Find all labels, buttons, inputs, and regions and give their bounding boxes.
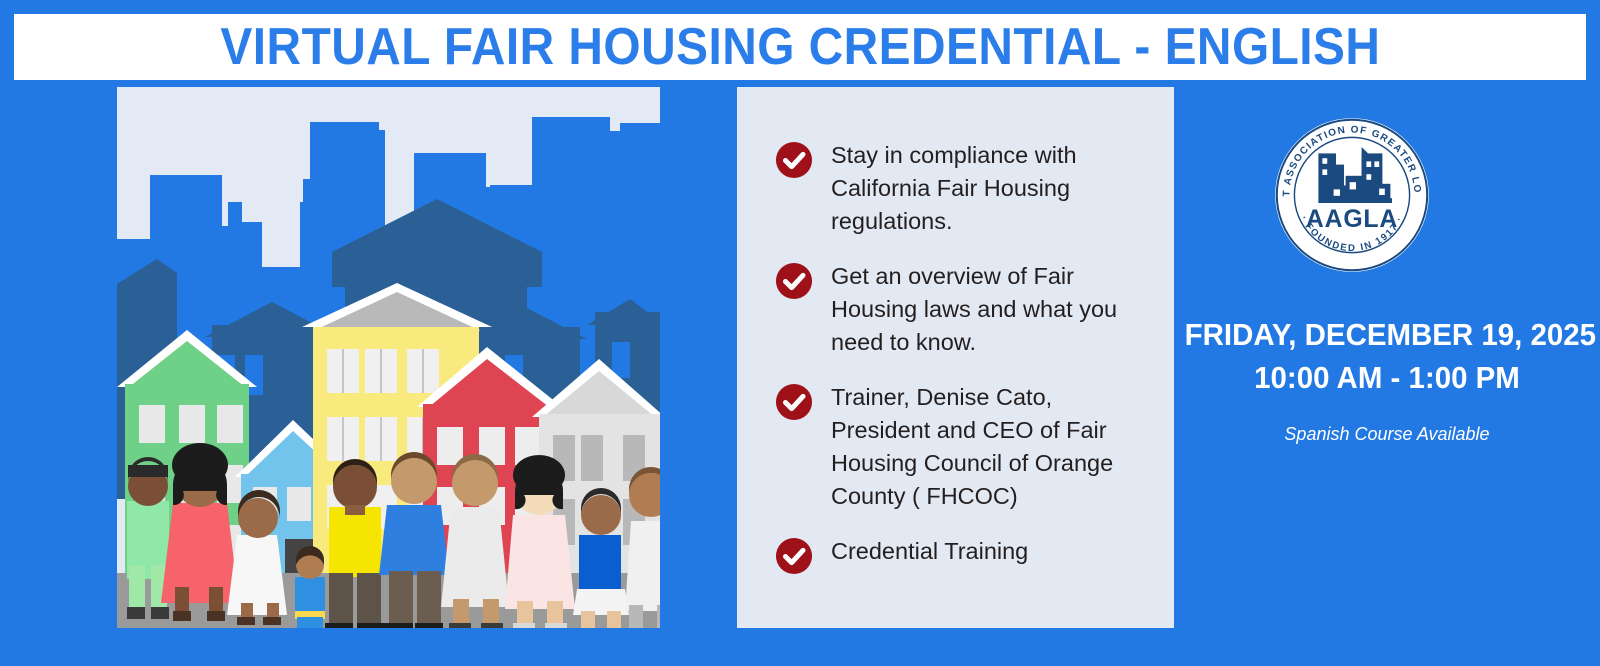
spanish-course-note: Spanish Course Available	[1174, 424, 1600, 445]
bullet-label: Stay in compliance with California Fair …	[831, 139, 1131, 238]
check-circle-icon	[775, 537, 813, 575]
illustration-svg	[117, 87, 660, 628]
event-date: FRIDAY, DECEMBER 19, 2025	[1185, 319, 1590, 350]
benefits-panel: Stay in compliance with California Fair …	[737, 87, 1174, 628]
person-9	[625, 467, 660, 628]
check-circle-icon	[775, 141, 813, 179]
page-title: VIRTUAL FAIR HOUSING CREDENTIAL - ENGLIS…	[220, 21, 1380, 73]
event-time: 10:00 AM - 1:00 PM	[1185, 362, 1590, 393]
check-circle-icon	[775, 383, 813, 421]
event-banner: VIRTUAL FAIR HOUSING CREDENTIAL - ENGLIS…	[0, 0, 1600, 666]
event-info-column: APARTMENT ASSOCIATION OF GREATER LOS ANG…	[1174, 87, 1600, 628]
person-8	[573, 488, 629, 628]
aagla-logo-svg: APARTMENT ASSOCIATION OF GREATER LOS ANG…	[1272, 115, 1432, 275]
bullet-item: Credential Training	[775, 535, 1144, 575]
aagla-seal-logo: APARTMENT ASSOCIATION OF GREATER LOS ANG…	[1272, 115, 1432, 275]
check-circle-icon	[775, 262, 813, 300]
bullet-item: Get an overview of Fair Housing laws and…	[775, 260, 1144, 359]
bullet-label: Trainer, Denise Cato, President and CEO …	[831, 381, 1131, 513]
person-child	[295, 546, 325, 628]
bullet-item: Trainer, Denise Cato, President and CEO …	[775, 381, 1144, 513]
bullet-label: Get an overview of Fair Housing laws and…	[831, 260, 1131, 359]
bullet-label: Credential Training	[831, 535, 1028, 568]
logo-acronym: AAGLA	[1306, 206, 1398, 233]
person-2	[161, 443, 239, 621]
bullet-item: Stay in compliance with California Fair …	[775, 139, 1144, 238]
title-bar: VIRTUAL FAIR HOUSING CREDENTIAL - ENGLIS…	[14, 14, 1586, 80]
fair-housing-neighborhood-illustration	[117, 87, 660, 628]
